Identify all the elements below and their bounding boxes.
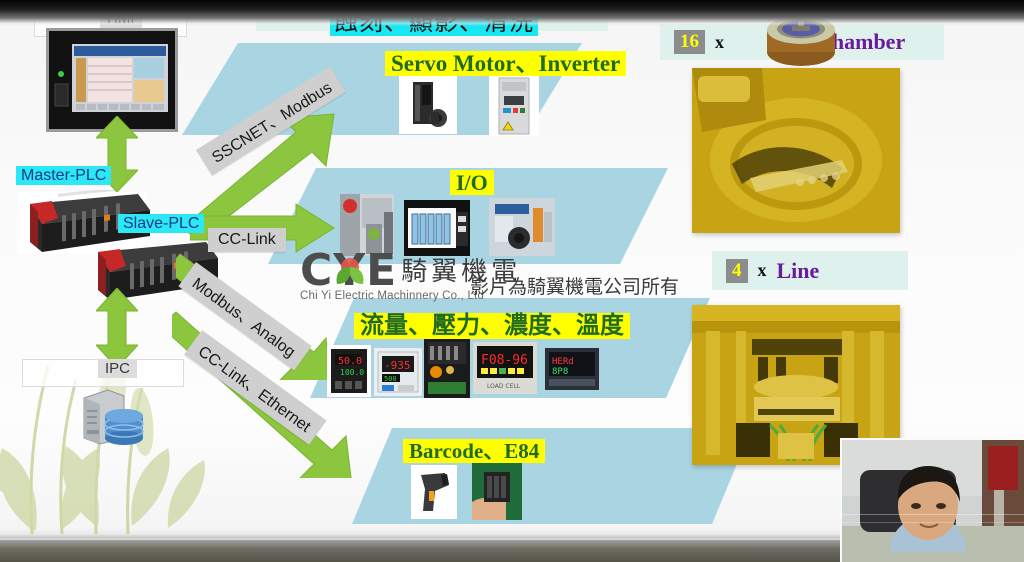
band-heading-barcode: Barcode、E84	[403, 435, 545, 465]
controller-rack	[424, 338, 470, 398]
hmi-label-text: HMI	[100, 9, 142, 28]
ipc-label: IPC	[98, 360, 137, 378]
ipc-server-icon	[78, 386, 150, 448]
slide-canvas: 蝕刻、顯影、清洗 HMI Master-PLC	[0, 0, 1024, 562]
io-module-photo	[489, 198, 555, 256]
svg-text:100.0: 100.0	[340, 368, 364, 377]
line-count-box: 4 x Line	[712, 251, 908, 290]
svg-text:50.0: 50.0	[338, 356, 362, 367]
temp-display: F08-96 LOAD CELL	[473, 342, 537, 394]
master-plc-label-text: Master-PLC	[16, 166, 111, 185]
master-plc-label: Master-PLC	[16, 167, 111, 185]
band-heading-io: I/O	[450, 170, 494, 196]
slave-plc-label: Slave-PLC	[118, 215, 204, 233]
inverter-photo	[489, 74, 539, 136]
servo-motor-photo	[399, 76, 457, 134]
chamber-3d-icon	[758, 8, 844, 70]
svg-text:LOAD CELL: LOAD CELL	[487, 383, 521, 390]
svg-text:HERd: HERd	[552, 357, 574, 367]
line-count: 4	[726, 259, 748, 283]
arrow-plc-ipc	[96, 288, 138, 368]
webcam-overlay[interactable]	[840, 438, 1024, 562]
band-heading-process: 流量、壓力、濃度、溫度	[354, 305, 630, 340]
svg-text:8P8: 8P8	[552, 367, 568, 377]
panel-meter: HERd 8P8	[545, 348, 599, 390]
chamber-count: 16	[674, 30, 705, 54]
band-heading-barcode-text: Barcode、E84	[403, 439, 545, 463]
chamber-photo	[692, 68, 900, 233]
e84-module	[472, 462, 522, 520]
pressure-sensor: -935 500	[374, 348, 422, 396]
line-label: Line	[777, 258, 820, 284]
watermark-notice: 影片為騎翼機電公司所有	[470, 272, 679, 299]
svg-text:F08-96: F08-96	[481, 353, 528, 368]
svg-text:500: 500	[384, 375, 397, 383]
band-heading-process-text: 流量、壓力、濃度、溫度	[354, 313, 630, 339]
link-label-cclink: CC-Link	[208, 228, 286, 252]
barcode-scanner	[411, 465, 457, 519]
line-times: x	[758, 260, 767, 281]
io-terminal-photo	[404, 200, 470, 256]
watermark-leaf-icon	[331, 252, 369, 292]
chamber-times: x	[715, 32, 724, 53]
page-title-text: 蝕刻、顯影、清洗	[330, 8, 538, 36]
band-heading-servo: Servo Motor、Inverter	[385, 44, 626, 78]
band-heading-servo-text: Servo Motor、Inverter	[385, 51, 626, 76]
band-heading-io-text: I/O	[450, 170, 494, 195]
flow-meter: 50.0 100.0	[327, 345, 371, 397]
ipc-label-text: IPC	[98, 359, 137, 378]
hmi-label: HMI	[100, 10, 142, 28]
svg-text:-935: -935	[384, 359, 411, 372]
slave-plc-label-text: Slave-PLC	[118, 214, 204, 233]
page-title: 蝕刻、顯影、清洗	[330, 2, 538, 37]
